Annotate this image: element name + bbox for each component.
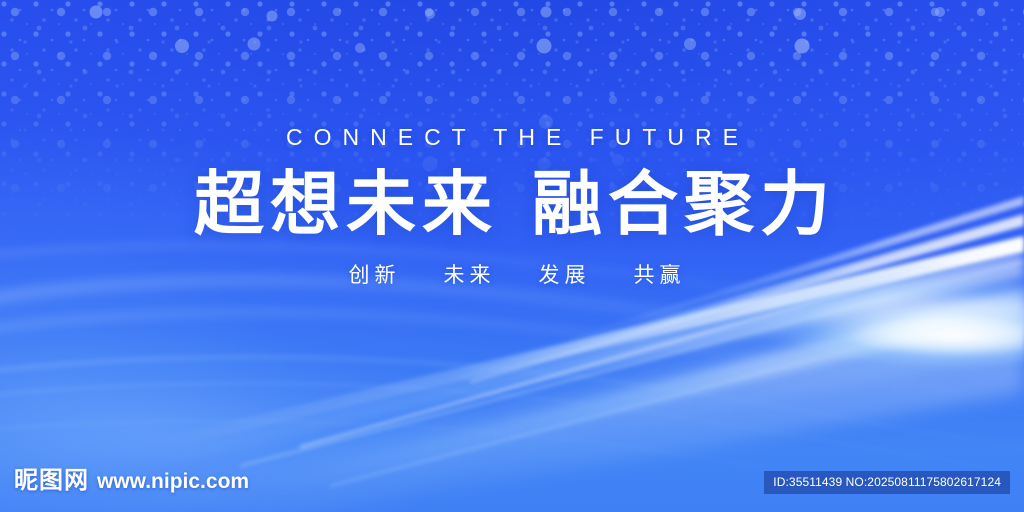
subtitle-word-4: 共赢: [629, 265, 686, 286]
watermark: 昵图网 www.nipic.com: [14, 460, 249, 495]
headline-left: 超想未来: [194, 165, 498, 243]
watermark-site-name: 昵图网: [14, 460, 89, 495]
page-title: 超想未来融合聚力: [0, 169, 1024, 239]
watermark-site-url: www.nipic.com: [97, 470, 249, 494]
light-glow-core-inner: [684, 288, 1024, 384]
eyebrow-text: CONNECT THE FUTURE: [0, 126, 1024, 149]
banner-text-block: CONNECT THE FUTURE 超想未来融合聚力 创新未来发展共赢: [0, 126, 1024, 286]
subtitle-text: 创新未来发展共赢: [0, 265, 1024, 286]
banner-poster: CONNECT THE FUTURE 超想未来融合聚力 创新未来发展共赢 昵图网…: [0, 0, 1024, 512]
subtitle-word-3: 发展: [534, 265, 591, 286]
subtitle-word-1: 创新: [344, 265, 401, 286]
status-badge: ID:35511439 NO:20250811175802617124: [764, 471, 1010, 494]
headline-right: 融合聚力: [532, 165, 836, 243]
subtitle-word-2: 未来: [439, 265, 496, 286]
